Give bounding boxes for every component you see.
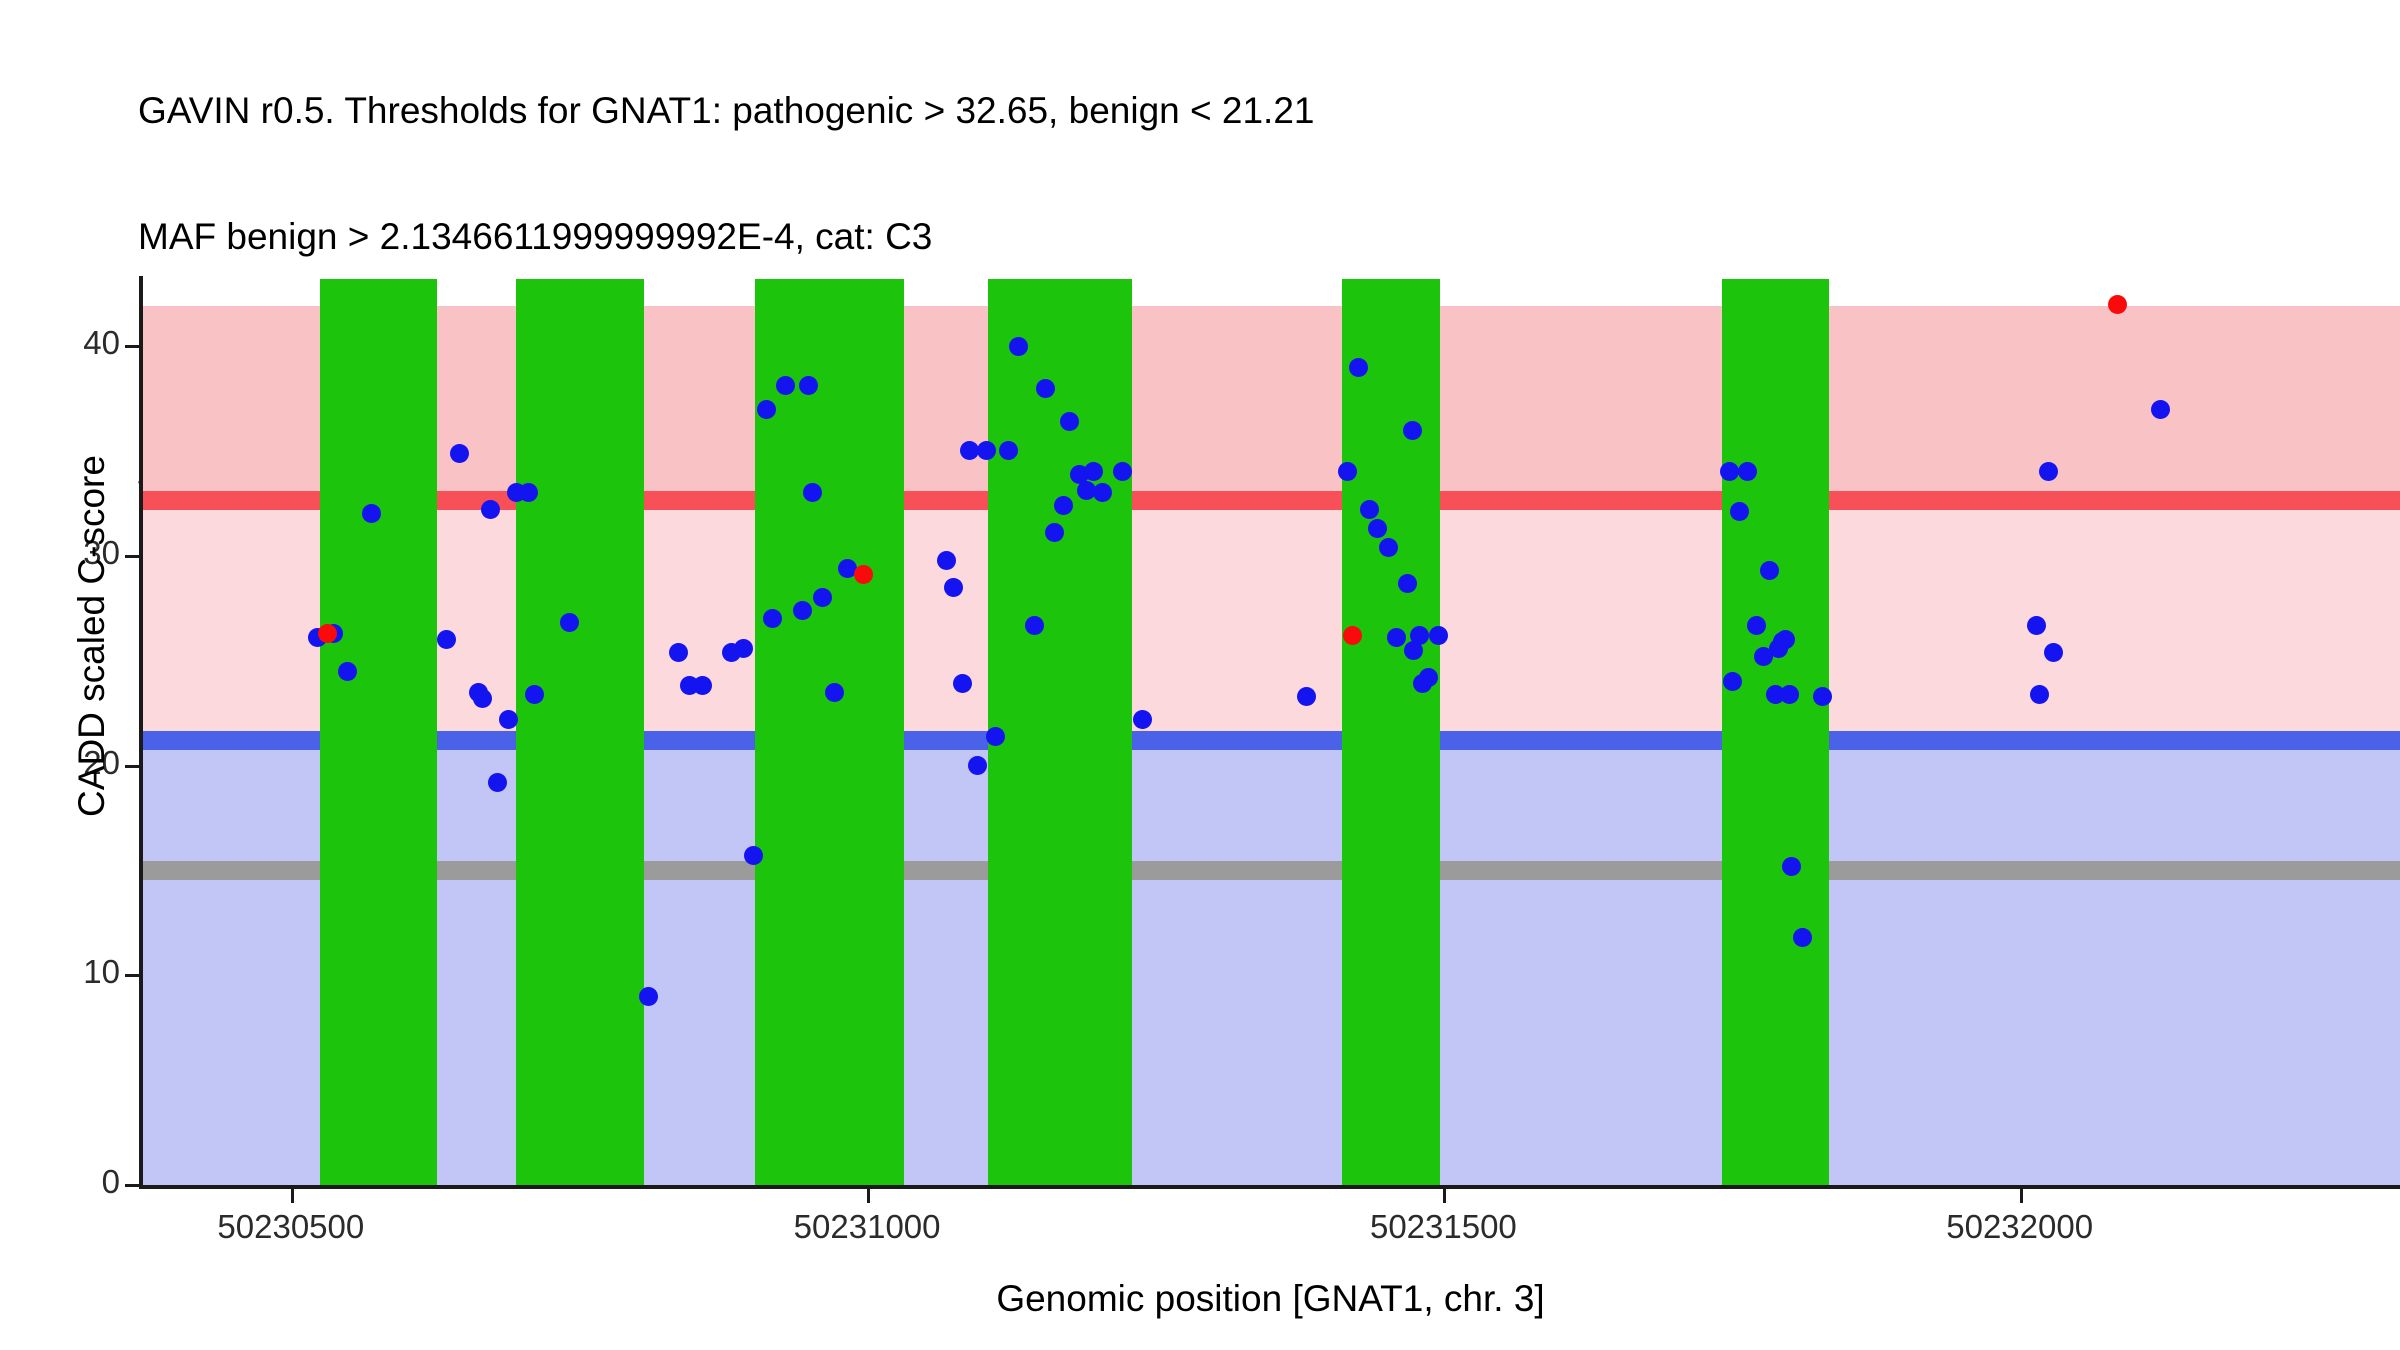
data-point [744,846,763,865]
fallback-threshold-line [141,861,2400,880]
data-point [481,500,500,519]
title-line-1: GAVIN r0.5. Thresholds for GNAT1: pathog… [138,90,2338,132]
data-point [2108,295,2127,314]
x-axis-tick [291,1189,294,1203]
data-point [944,578,963,597]
data-point [1398,574,1417,593]
data-point [450,444,469,463]
title-line-2: MAF benign > 2.1346611999999992E-4, cat:… [138,216,2338,258]
benign-zone [141,740,2400,1185]
data-point [693,676,712,695]
y-axis-tick [125,345,139,348]
data-point [1403,421,1422,440]
data-point [1760,561,1779,580]
data-point [1780,685,1799,704]
data-point [813,588,832,607]
data-point [669,643,688,662]
plot-panel [141,279,2400,1185]
exon-band [1342,279,1440,1185]
benign-threshold-line [141,731,2400,750]
data-point [1343,626,1362,645]
x-axis-title: Genomic position [GNAT1, chr. 3] [141,1278,2400,1320]
data-point [1747,616,1766,635]
data-point [1419,668,1438,687]
x-axis-tick-label: 50230500 [217,1208,364,1246]
data-point [1133,710,1152,729]
data-point [318,624,337,643]
data-point [2027,616,2046,635]
data-point [1297,687,1316,706]
data-point [1036,379,1055,398]
data-point [734,639,753,658]
data-point [1009,337,1028,356]
data-point [1387,628,1406,647]
pathogenic-threshold-line [141,491,2400,510]
exon-band [988,279,1132,1185]
data-point [488,773,507,792]
x-axis-tick-label: 50231500 [1370,1208,1517,1246]
data-point [1410,626,1429,645]
data-point [1084,462,1103,481]
data-point [1349,358,1368,377]
x-axis-tick-label: 50232000 [1946,1208,2093,1246]
data-point [757,400,776,419]
exon-band [1722,279,1829,1185]
y-axis-title: CADD scaled C-score [71,286,113,986]
exon-band [755,279,904,1185]
data-point [1025,616,1044,635]
x-axis-tick [2020,1189,2023,1203]
data-point [825,683,844,702]
y-axis-line [139,276,143,1188]
data-point [437,630,456,649]
data-point [2151,400,2170,419]
x-axis-tick [1443,1189,1446,1203]
data-point [2044,643,2063,662]
data-point [986,727,1005,746]
x-axis-line [139,1185,2400,1189]
y-axis-tick [125,555,139,558]
y-axis-tick [125,765,139,768]
data-point [1093,483,1112,502]
y-axis-tick [125,1184,139,1187]
data-point [1054,496,1073,515]
pathogenic-zone-upper [141,306,2400,500]
data-point [338,662,357,681]
data-point [639,987,658,1006]
data-point [525,685,544,704]
data-point [473,689,492,708]
y-axis-tick-label: 0 [0,1163,120,1201]
data-point [1379,538,1398,557]
data-point [1813,687,1832,706]
data-point [2030,685,2049,704]
exon-band [516,279,644,1185]
x-axis-tick [867,1189,870,1203]
exon-band [320,279,438,1185]
data-point [793,601,812,620]
data-point [937,551,956,570]
data-point [499,710,518,729]
x-axis-tick-label: 50231000 [794,1208,941,1246]
data-point [1782,857,1801,876]
chart-root: GAVIN r0.5. Thresholds for GNAT1: pathog… [0,0,2400,1350]
y-axis-tick [125,974,139,977]
